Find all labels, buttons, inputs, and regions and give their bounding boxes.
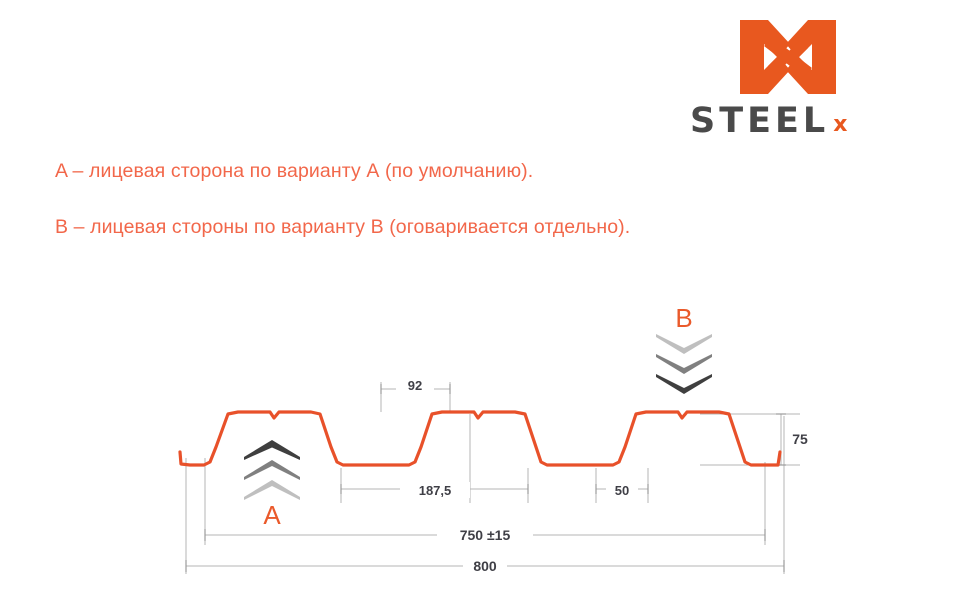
dimension-label-effective-width: 750 ±15 [460, 527, 511, 543]
face-variant-a-label: A [244, 502, 300, 528]
dimension-label-pitch: 187,5 [419, 483, 452, 498]
chevron-down-icon-light [656, 334, 712, 354]
profile-technical-drawing: 92 187,5 50 75 750 ±15 800 [0, 0, 970, 597]
chevron-up-icon-light [244, 480, 300, 500]
dimension-label-overall-width: 800 [473, 558, 497, 574]
chevron-down-icon-mid [656, 354, 712, 374]
chevron-down-icon-dark [656, 374, 712, 394]
face-variant-a-marker: A [244, 440, 300, 528]
chevron-up-icon-mid [244, 460, 300, 480]
chevron-up-stack-icon [244, 440, 300, 500]
face-variant-b-label: B [656, 305, 712, 331]
dimension-label-valley-width: 50 [615, 483, 629, 498]
page-root: STEEL x A – лицевая сторона по варианту … [0, 0, 970, 597]
chevron-down-stack-icon [656, 334, 712, 394]
dimension-label-rib-top-width: 92 [408, 378, 422, 393]
dimension-label-profile-height: 75 [792, 431, 808, 447]
face-variant-b-marker: B [656, 305, 712, 394]
chevron-up-icon-dark [244, 440, 300, 460]
dimension-labels: 92 187,5 50 75 750 ±15 800 [396, 377, 816, 575]
